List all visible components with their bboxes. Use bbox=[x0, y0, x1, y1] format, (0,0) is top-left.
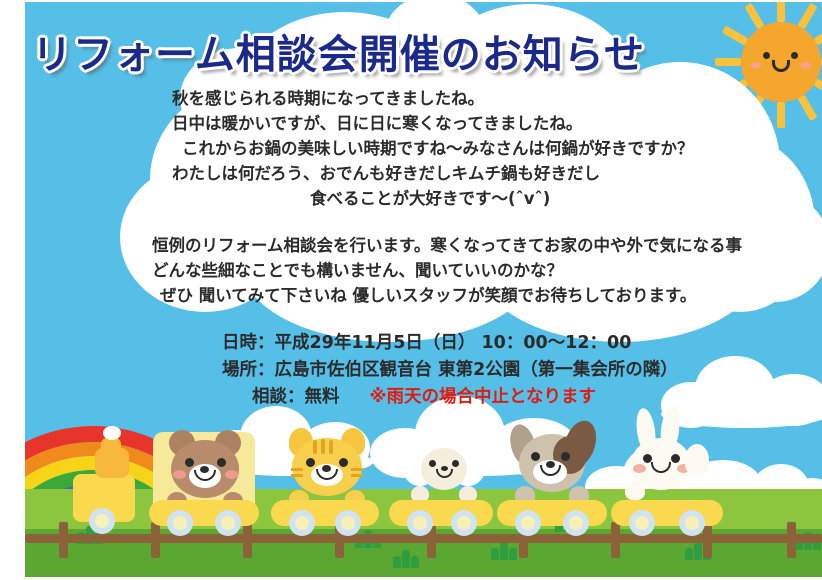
paragraph1-line: 日中は暖かいですが、日に日に寒くなってきましたね。 bbox=[172, 111, 822, 136]
train-car-dog bbox=[497, 430, 613, 536]
flyer-canvas: リフォーム相談会開催のお知らせ 秋を感じられる時期になってきましたね。 日中は暖… bbox=[0, 0, 822, 580]
train-car-bear bbox=[145, 432, 263, 536]
flyer-body-text: 秋を感じられる時期になってきましたね。 日中は暖かいですが、日に日に寒くなってき… bbox=[0, 86, 822, 411]
rabbit-animal bbox=[625, 416, 711, 510]
dog-animal bbox=[513, 424, 597, 510]
paragraph-event-invitation: 恒例のリフォーム相談会を行います。寒くなってきてお家の中や外で気になる事 どんな… bbox=[0, 233, 822, 308]
train-car-sheep bbox=[389, 434, 499, 536]
detail-fee: 相談：無料 bbox=[252, 387, 340, 407]
detail-fee-and-warning: 相談：無料※雨天の場合中止となります bbox=[252, 384, 822, 411]
train-car-rabbit bbox=[611, 424, 727, 536]
paragraph1-line: 秋を感じられる時期になってきましたね。 bbox=[172, 86, 822, 111]
train-locomotive bbox=[73, 448, 151, 536]
paragraph2-line: どんな些細なことでも構いません、聞いていいのかな？ bbox=[152, 258, 822, 283]
detail-location: 場所：広島市佐伯区観音台 東第2公園（第一集会所の隣） bbox=[222, 357, 822, 384]
detail-datetime: 日時：平成29年11月5日（日） 10：00～12：00 bbox=[222, 330, 822, 357]
paragraph1-line: わたしは何だろう、おでんも好きだしキムチ鍋も好きだし bbox=[172, 161, 822, 186]
paragraph-event-details: 日時：平成29年11月5日（日） 10：00～12：00 場所：広島市佐伯区観音… bbox=[0, 330, 822, 411]
paragraph2-line: ぜひ 聞いてみて下さいね 優しいスタッフが笑顔でお待ちしております。 bbox=[160, 283, 822, 308]
paragraph1-line: 食べることが大好きです～(ˆvˆ) bbox=[310, 186, 822, 211]
paragraph-seasonal-greeting: 秋を感じられる時期になってきましたね。 日中は暖かいですが、日に日に寒くなってき… bbox=[0, 86, 822, 211]
train-car-cat bbox=[269, 432, 385, 536]
sheep-animal bbox=[405, 430, 483, 510]
paragraph2-line: 恒例のリフォーム相談会を行います。寒くなってきてお家の中や外で気になる事 bbox=[152, 233, 822, 258]
animal-train-illustration bbox=[73, 434, 633, 554]
page-title: リフォーム相談会開催のお知らせ bbox=[32, 22, 645, 80]
paragraph1-line: これからお鍋の美味しい時期ですね～みなさんは何鍋が好きですか？ bbox=[182, 136, 822, 161]
rain-cancellation-warning: ※雨天の場合中止となります bbox=[370, 387, 597, 407]
